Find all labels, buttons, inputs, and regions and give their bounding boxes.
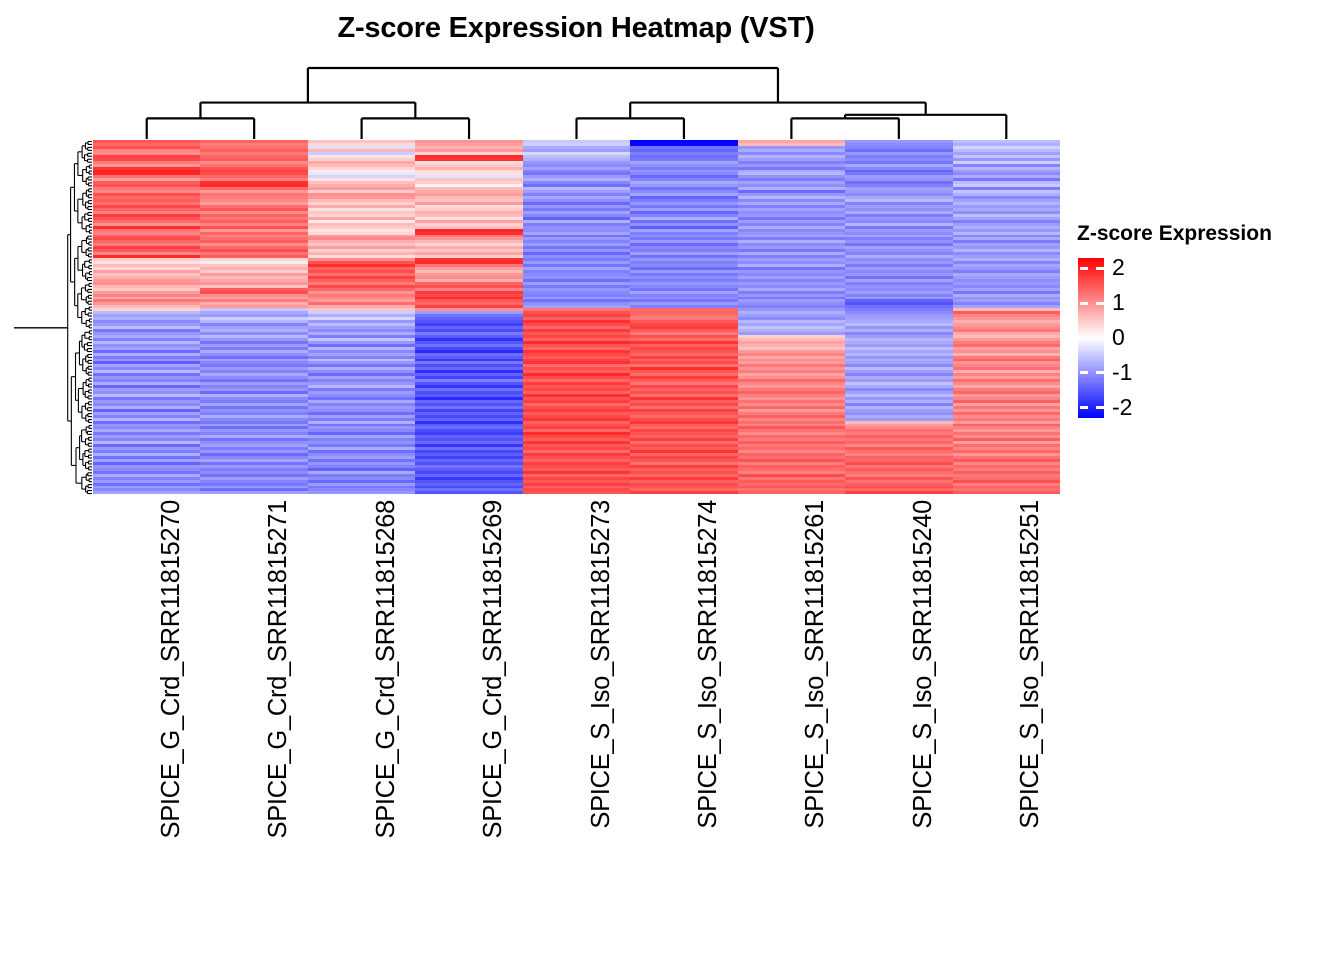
column-label-7: SPICE_S_Iso_SRR11815240 [909, 500, 938, 920]
column-label-0: SPICE_G_Crd_SRR11815270 [157, 500, 186, 920]
column-label-2: SPICE_G_Crd_SRR11815268 [372, 500, 401, 920]
legend-title: Z-score Expression [1077, 222, 1326, 246]
row-dendrogram [12, 140, 92, 495]
colorbar [1078, 258, 1104, 418]
colorbar-tick-label-4: -2 [1112, 396, 1132, 419]
heatmap-matrix[interactable] [93, 140, 1060, 495]
column-label-6: SPICE_S_Iso_SRR11815261 [801, 500, 830, 920]
colorbar-tick-mark [1096, 371, 1104, 374]
legend-body: 210-1-2 [1076, 258, 1326, 433]
colorbar-tick-label-2: 0 [1112, 326, 1125, 349]
column-labels: SPICE_G_Crd_SRR11815270SPICE_G_Crd_SRR11… [93, 500, 1060, 930]
heatmap-cell[interactable] [308, 491, 415, 494]
heatmap-cell[interactable] [523, 491, 630, 494]
heatmap-cell[interactable] [845, 491, 952, 494]
colorbar-tick-label-3: -1 [1112, 361, 1132, 384]
colorbar-tick-mark [1080, 337, 1088, 340]
colorbar-tick-mark [1096, 302, 1104, 305]
colorbar-tick-mark [1096, 406, 1104, 409]
colorbar-tick-mark [1080, 267, 1088, 270]
column-dendrogram [93, 60, 1060, 140]
heatmap-cell[interactable] [630, 491, 737, 494]
legend: Z-score Expression 210-1-2 [1076, 222, 1326, 433]
heatmap-cell[interactable] [415, 491, 522, 494]
heatmap-figure: Z-score Expression Heatmap (VST) SPICE_G… [0, 0, 1344, 960]
column-label-4: SPICE_S_Iso_SRR11815273 [587, 500, 616, 920]
column-label-8: SPICE_S_Iso_SRR11815251 [1016, 500, 1045, 920]
colorbar-tick-mark [1080, 406, 1088, 409]
colorbar-tick-mark [1096, 267, 1104, 270]
heatmap-row [93, 491, 1060, 494]
heatmap-cell[interactable] [953, 491, 1060, 494]
column-label-3: SPICE_G_Crd_SRR11815269 [479, 500, 508, 920]
colorbar-tick-mark [1096, 337, 1104, 340]
heatmap-cell[interactable] [93, 491, 200, 494]
column-label-1: SPICE_G_Crd_SRR11815271 [264, 500, 293, 920]
heatmap-cell[interactable] [738, 491, 845, 494]
colorbar-tick-label-1: 1 [1112, 291, 1125, 314]
colorbar-tick-mark [1080, 302, 1088, 305]
page-title: Z-score Expression Heatmap (VST) [0, 12, 1152, 45]
heatmap-cell[interactable] [200, 491, 307, 494]
colorbar-tick-mark [1080, 371, 1088, 374]
column-label-5: SPICE_S_Iso_SRR11815274 [694, 500, 723, 920]
colorbar-tick-label-0: 2 [1112, 256, 1125, 279]
